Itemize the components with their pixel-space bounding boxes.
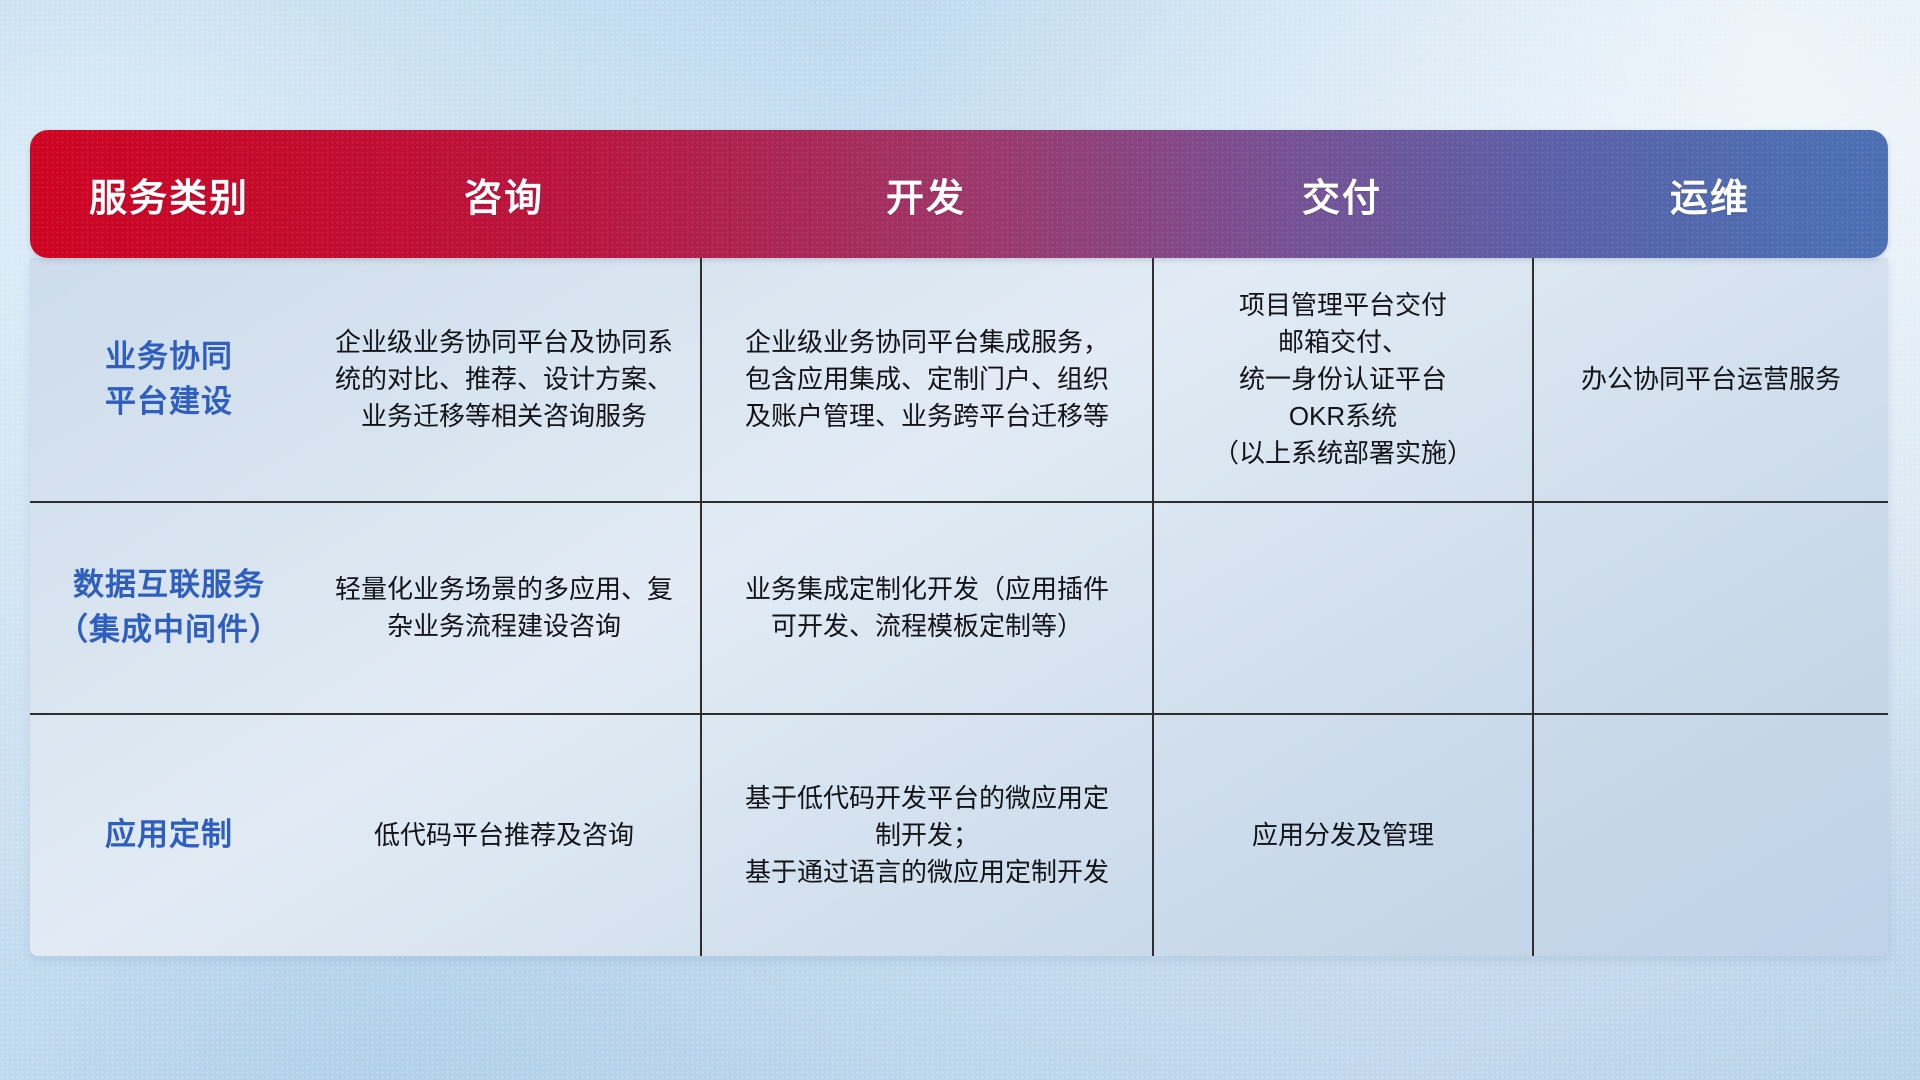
cell-operations <box>1532 713 1888 956</box>
column-header-consulting: 咨询 <box>308 130 700 258</box>
table-row: 数据互联服务 （集成中间件） 轻量化业务场景的多应用、复 杂业务流程建设咨询 业… <box>30 501 1888 713</box>
cell-category: 应用定制 <box>30 713 308 956</box>
cell-consulting: 企业级业务协同平台及协同系 统的对比、推荐、设计方案、 业务迁移等相关咨询服务 <box>308 258 700 501</box>
column-header-delivery: 交付 <box>1152 130 1532 258</box>
cell-consulting: 轻量化业务场景的多应用、复 杂业务流程建设咨询 <box>308 501 700 713</box>
table-header-row: 服务类别 咨询 开发 交付 运维 <box>30 130 1888 258</box>
column-header-operations: 运维 <box>1532 130 1888 258</box>
cell-delivery: 项目管理平台交付 邮箱交付、 统一身份认证平台 OKR系统 （以上系统部署实施） <box>1152 258 1532 501</box>
table-row: 应用定制 低代码平台推荐及咨询 基于低代码开发平台的微应用定 制开发； 基于通过… <box>30 713 1888 956</box>
table-row: 业务协同 平台建设 企业级业务协同平台及协同系 统的对比、推荐、设计方案、 业务… <box>30 258 1888 501</box>
cell-delivery: 应用分发及管理 <box>1152 713 1532 956</box>
cell-delivery <box>1152 501 1532 713</box>
cell-development: 企业级业务协同平台集成服务， 包含应用集成、定制门户、组织 及账户管理、业务跨平… <box>700 258 1152 501</box>
column-header-category: 服务类别 <box>30 130 308 258</box>
cell-consulting: 低代码平台推荐及咨询 <box>308 713 700 956</box>
cell-development: 基于低代码开发平台的微应用定 制开发； 基于通过语言的微应用定制开发 <box>700 713 1152 956</box>
cell-operations: 办公协同平台运营服务 <box>1532 258 1888 501</box>
slide-canvas: 服务类别 咨询 开发 交付 运维 业务协同 平台建设 企业级业务协同平台及协同系… <box>0 0 1920 1080</box>
cell-category: 数据互联服务 （集成中间件） <box>30 501 308 713</box>
column-header-development: 开发 <box>700 130 1152 258</box>
cell-development: 业务集成定制化开发（应用插件 可开发、流程模板定制等） <box>700 501 1152 713</box>
table-body: 业务协同 平台建设 企业级业务协同平台及协同系 统的对比、推荐、设计方案、 业务… <box>30 258 1888 956</box>
cell-operations <box>1532 501 1888 713</box>
service-matrix-table: 服务类别 咨询 开发 交付 运维 业务协同 平台建设 企业级业务协同平台及协同系… <box>30 130 1888 956</box>
cell-category: 业务协同 平台建设 <box>30 258 308 501</box>
